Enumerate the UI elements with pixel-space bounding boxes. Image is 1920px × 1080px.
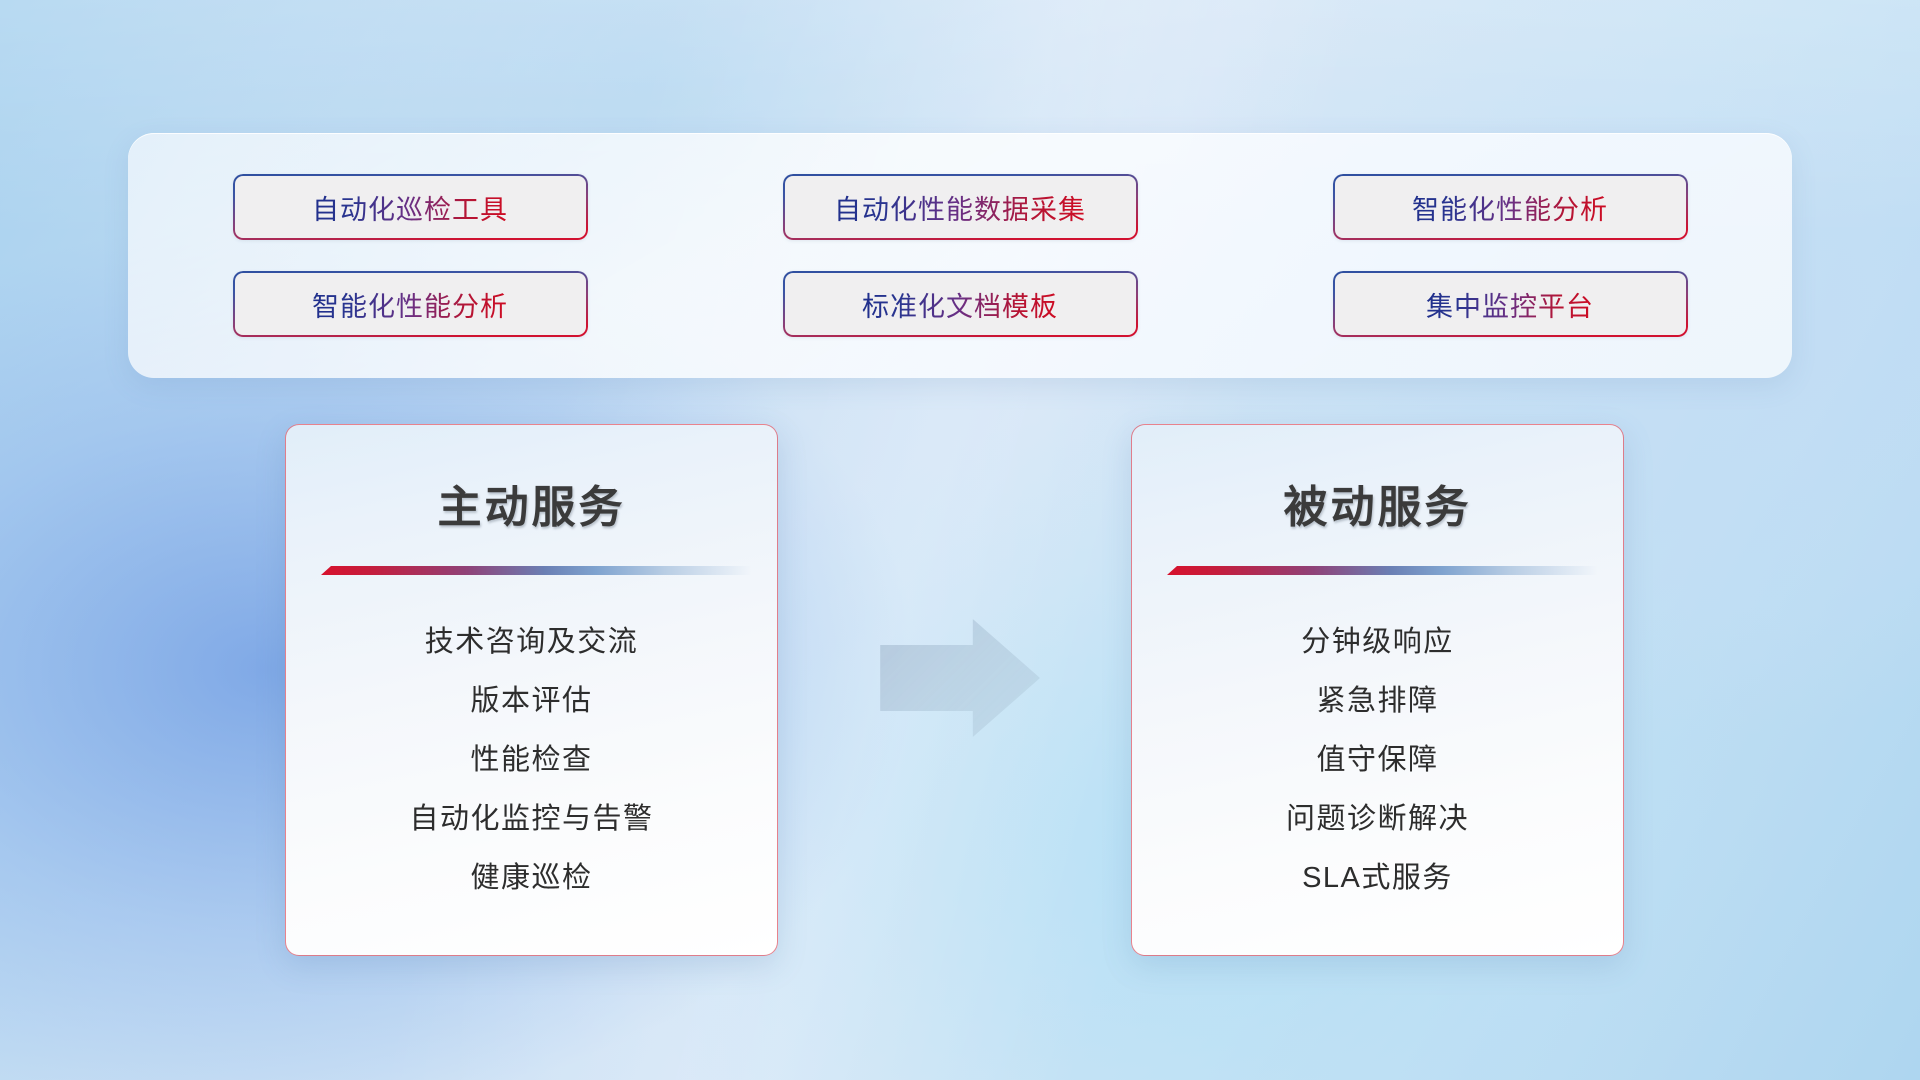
- list-item: 技术咨询及交流: [312, 613, 751, 672]
- capability-panel: 自动化巡检工具 自动化性能数据采集 智能化性能分析 智能化性能分析 标准化文档模…: [128, 133, 1792, 378]
- reactive-service-card: 被动服务 分钟级响应 紧急排障 值守保障 问题诊断解决 SLA式服务: [1131, 424, 1624, 956]
- capability-tag-label: 智能化性能分析: [312, 285, 508, 324]
- proactive-service-list: 技术咨询及交流 版本评估 性能检查 自动化监控与告警 健康巡检: [286, 613, 777, 908]
- capability-tag[interactable]: 智能化性能分析: [1333, 174, 1688, 240]
- list-item: 性能检查: [312, 731, 751, 790]
- card-title: 主动服务: [286, 471, 777, 535]
- reactive-service-list: 分钟级响应 紧急排障 值守保障 问题诊断解决 SLA式服务: [1132, 613, 1623, 908]
- list-item: 值守保障: [1158, 731, 1597, 790]
- proactive-service-card: 主动服务 技术咨询及交流 版本评估 性能检查 自动化监控与告警 健康巡检: [285, 424, 778, 956]
- capability-tag-label: 智能化性能分析: [1412, 188, 1608, 227]
- capability-tag[interactable]: 标准化文档模板: [783, 271, 1138, 337]
- capability-tag-label: 自动化巡检工具: [312, 188, 508, 227]
- capability-tag[interactable]: 智能化性能分析: [233, 271, 588, 337]
- capability-tag-label: 标准化文档模板: [862, 285, 1058, 324]
- capability-tag-label: 自动化性能数据采集: [834, 188, 1086, 227]
- list-item: 分钟级响应: [1158, 613, 1597, 672]
- capability-tag[interactable]: 集中监控平台: [1333, 271, 1688, 337]
- card-title: 被动服务: [1132, 471, 1623, 535]
- card-title-divider: [321, 566, 751, 575]
- list-item: 版本评估: [312, 672, 751, 731]
- capability-tag-label: 集中监控平台: [1426, 285, 1594, 324]
- list-item: 问题诊断解决: [1158, 790, 1597, 849]
- capability-tag[interactable]: 自动化性能数据采集: [783, 174, 1138, 240]
- capability-tag-grid: 自动化巡检工具 自动化性能数据采集 智能化性能分析 智能化性能分析 标准化文档模…: [233, 174, 1688, 337]
- capability-tag[interactable]: 自动化巡检工具: [233, 174, 588, 240]
- card-title-divider: [1167, 566, 1597, 575]
- list-item: SLA式服务: [1158, 849, 1597, 908]
- list-item: 健康巡检: [312, 849, 751, 908]
- list-item: 紧急排障: [1158, 672, 1597, 731]
- list-item: 自动化监控与告警: [312, 790, 751, 849]
